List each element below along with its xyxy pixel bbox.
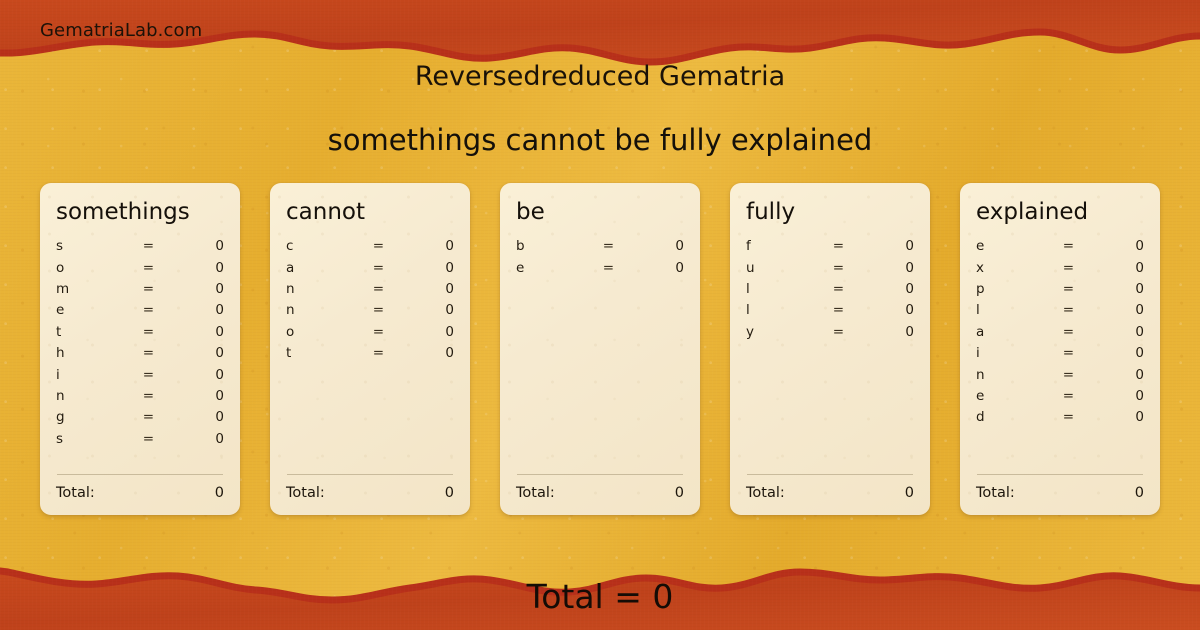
letter: f [746,238,823,254]
letter-value: 0 [164,281,225,297]
equals-sign: = [1053,345,1083,361]
card-divider [747,474,913,475]
letter-row: l = 0 [746,302,914,323]
letter-value: 0 [164,367,225,383]
letter-value: 0 [164,260,225,276]
equals-sign: = [363,324,393,340]
letter-value: 0 [1084,260,1145,276]
letter-row: f = 0 [746,238,914,259]
letter-row: t = 0 [56,324,224,345]
letter: h [56,345,133,361]
letter-value: 0 [394,324,455,340]
letter-value: 0 [164,302,225,318]
card-word-title: fully [746,200,914,225]
word-cards-container: somethings s = 0 o = 0 m = 0 e [40,183,1160,515]
letter: a [286,260,363,276]
equals-sign: = [1053,367,1083,383]
letter-row: s = 0 [56,238,224,259]
card-total-label: Total: [746,485,905,501]
letter-value: 0 [1084,281,1145,297]
card-total-value: 0 [215,485,224,501]
letter: s [56,431,133,447]
letter: t [286,345,363,361]
letter-row: l = 0 [746,281,914,302]
letter-value: 0 [854,238,915,254]
letter-row: o = 0 [56,260,224,281]
letter-value: 0 [1084,345,1145,361]
letter: n [976,367,1053,383]
letter-value: 0 [394,281,455,297]
word-card: somethings s = 0 o = 0 m = 0 e [40,183,240,515]
card-total-label: Total: [286,485,445,501]
equals-sign: = [1053,238,1083,254]
card-word-title: explained [976,200,1144,225]
letter-value: 0 [1084,388,1145,404]
letter: l [746,302,823,318]
card-total-row: Total: 0 [976,485,1144,501]
letter: a [976,324,1053,340]
letter-row: u = 0 [746,260,914,281]
letter-row: n = 0 [286,281,454,302]
letter-value: 0 [1084,367,1145,383]
letter: e [56,302,133,318]
equals-sign: = [133,238,163,254]
card-divider [977,474,1143,475]
card-total-value: 0 [675,485,684,501]
card-total-label: Total: [56,485,215,501]
letter-row: p = 0 [976,281,1144,302]
equals-sign: = [823,238,853,254]
letter-value: 0 [164,431,225,447]
word-card: explained e = 0 x = 0 p = 0 l [960,183,1160,515]
equals-sign: = [363,238,393,254]
card-word-title: cannot [286,200,454,225]
card-total-row: Total: 0 [516,485,684,501]
page-subtitle: somethings cannot be fully explained [0,123,1200,157]
letter-row: s = 0 [56,431,224,452]
equals-sign: = [133,409,163,425]
letter-row: a = 0 [976,324,1144,345]
letter-value: 0 [164,324,225,340]
card-total-row: Total: 0 [746,485,914,501]
letter: o [286,324,363,340]
letter: p [976,281,1053,297]
card-word-title: somethings [56,200,224,225]
card-divider [517,474,683,475]
letter-value: 0 [1084,238,1145,254]
site-logo[interactable]: GematriaLab.com [40,20,202,41]
letter-value: 0 [854,302,915,318]
letter-value: 0 [1084,409,1145,425]
equals-sign: = [133,388,163,404]
equals-sign: = [593,238,623,254]
equals-sign: = [1053,281,1083,297]
letter-row: n = 0 [976,367,1144,388]
card-total-value: 0 [1135,485,1144,501]
equals-sign: = [823,281,853,297]
card-total-row: Total: 0 [286,485,454,501]
letter: e [976,388,1053,404]
letter-row: c = 0 [286,238,454,259]
letter: l [976,302,1053,318]
letter-value: 0 [624,238,685,254]
equals-sign: = [593,260,623,276]
letter: d [976,409,1053,425]
letter-value: 0 [394,302,455,318]
letter-row: m = 0 [56,281,224,302]
letter-row: a = 0 [286,260,454,281]
letter-value: 0 [1084,324,1145,340]
letter-row: e = 0 [516,260,684,281]
letter: t [56,324,133,340]
equals-sign: = [1053,409,1083,425]
letter: n [286,302,363,318]
equals-sign: = [133,324,163,340]
equals-sign: = [133,281,163,297]
letter-row: i = 0 [976,345,1144,366]
equals-sign: = [133,302,163,318]
letter-row: e = 0 [56,302,224,323]
letter-row: o = 0 [286,324,454,345]
equals-sign: = [1053,260,1083,276]
letter-row: e = 0 [976,388,1144,409]
letter-value: 0 [854,260,915,276]
equals-sign: = [1053,324,1083,340]
letter-row: x = 0 [976,260,1144,281]
letter-value: 0 [164,388,225,404]
letter: e [976,238,1053,254]
equals-sign: = [823,260,853,276]
letter: n [286,281,363,297]
page-title: Reversedreduced Gematria [0,61,1200,92]
card-total-value: 0 [905,485,914,501]
letter-value: 0 [164,409,225,425]
letter: s [56,238,133,254]
letter: i [56,367,133,383]
letter-value: 0 [394,238,455,254]
equals-sign: = [363,302,393,318]
card-word-title: be [516,200,684,225]
word-card: fully f = 0 u = 0 l = 0 l [730,183,930,515]
letter-row: t = 0 [286,345,454,366]
word-card: cannot c = 0 a = 0 n = 0 n [270,183,470,515]
equals-sign: = [823,324,853,340]
letter: n [56,388,133,404]
letter-row: d = 0 [976,409,1144,430]
letter: u [746,260,823,276]
equals-sign: = [363,281,393,297]
equals-sign: = [823,302,853,318]
letter: o [56,260,133,276]
equals-sign: = [363,345,393,361]
letter-value: 0 [1084,302,1145,318]
letter: l [746,281,823,297]
letter: e [516,260,593,276]
letter-value: 0 [854,324,915,340]
letter-value: 0 [164,238,225,254]
card-divider [57,474,223,475]
equals-sign: = [133,345,163,361]
letter-row: h = 0 [56,345,224,366]
letter: x [976,260,1053,276]
letter: b [516,238,593,254]
card-total-row: Total: 0 [56,485,224,501]
equals-sign: = [133,431,163,447]
letter-row: y = 0 [746,324,914,345]
card-total-label: Total: [976,485,1135,501]
letter: y [746,324,823,340]
letter-value: 0 [854,281,915,297]
letter-value: 0 [394,260,455,276]
letter-row: l = 0 [976,302,1144,323]
grand-total: Total = 0 [0,577,1200,616]
letter-value: 0 [164,345,225,361]
letter: i [976,345,1053,361]
letter-rows: b = 0 e = 0 [516,238,684,474]
letter: g [56,409,133,425]
equals-sign: = [133,260,163,276]
card-divider [287,474,453,475]
letter-row: b = 0 [516,238,684,259]
letter: c [286,238,363,254]
page-root: GematriaLab.com Reversedreduced Gematria… [0,0,1200,630]
equals-sign: = [363,260,393,276]
letter-row: n = 0 [286,302,454,323]
card-total-value: 0 [445,485,454,501]
letter-value: 0 [624,260,685,276]
card-total-label: Total: [516,485,675,501]
letter-row: e = 0 [976,238,1144,259]
equals-sign: = [133,367,163,383]
letter: m [56,281,133,297]
letter-value: 0 [394,345,455,361]
word-card: be b = 0 e = 0 Total: 0 [500,183,700,515]
equals-sign: = [1053,302,1083,318]
equals-sign: = [1053,388,1083,404]
letter-rows: f = 0 u = 0 l = 0 l = 0 [746,238,914,474]
letter-row: g = 0 [56,409,224,430]
letter-rows: e = 0 x = 0 p = 0 l = 0 [976,238,1144,474]
letter-rows: c = 0 a = 0 n = 0 n = 0 [286,238,454,474]
letter-row: n = 0 [56,388,224,409]
letter-rows: s = 0 o = 0 m = 0 e = 0 [56,238,224,474]
letter-row: i = 0 [56,367,224,388]
